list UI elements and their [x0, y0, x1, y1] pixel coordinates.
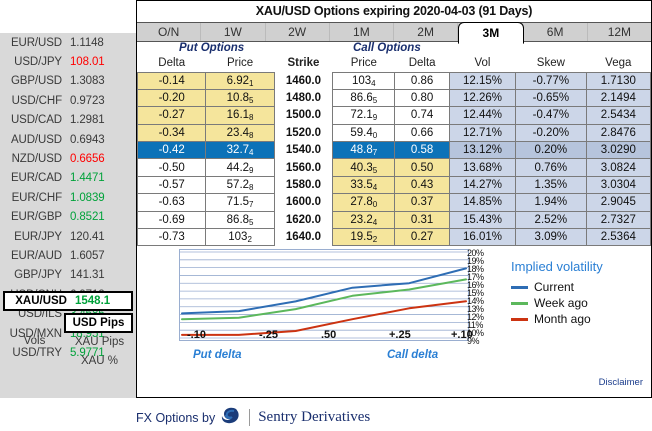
col-vega[interactable]: Vega [586, 56, 650, 72]
rate-value: 108.01 [70, 56, 130, 68]
cell-skew: -0.77% [516, 72, 586, 89]
rate-pair-label: EUR/JPY [0, 231, 70, 243]
col-call-delta[interactable]: Delta [395, 56, 449, 72]
cell-put-price: 86.85 [206, 211, 274, 228]
cell-put-price-fraction: 8 [249, 131, 253, 140]
cell-call-price: 19.52 [333, 229, 395, 246]
table-row[interactable]: -0.2010.851480.086.650.8012.26%-0.65%2.1… [138, 89, 651, 106]
cell-vol: 13.68% [449, 159, 515, 176]
chart-legend-item[interactable]: Month ago [511, 311, 641, 327]
cell-call-price-value: 48.8 [350, 144, 372, 156]
rate-value: 120.41 [70, 231, 130, 243]
chart-legend-item[interactable]: Current [511, 279, 641, 295]
xau-usd-pair-label: XAU/USD [5, 295, 75, 307]
cell-put-price-fraction: 4 [249, 148, 253, 157]
rate-pair-label: USD/CAD [0, 114, 70, 126]
vols-label: Vols [3, 313, 66, 369]
cell-call-delta: 0.50 [395, 159, 449, 176]
cell-put-delta: -0.34 [138, 124, 206, 141]
table-row[interactable]: -0.2716.181500.072.190.7412.44%-0.47%2.5… [138, 107, 651, 124]
cell-call-delta: 0.66 [395, 124, 449, 141]
rate-pair-label: GBP/JPY [0, 269, 70, 281]
rate-row[interactable]: GBP/USD1.3083 [0, 72, 136, 91]
cell-put-price-value: 23.4 [227, 127, 249, 139]
cell-put-price-value: 57.2 [227, 179, 249, 191]
col-vol[interactable]: Vol [449, 56, 515, 72]
sidebar-item-xau-usd[interactable]: XAU/USD 1548.1 [3, 291, 133, 311]
cell-call-price: 72.19 [333, 107, 395, 124]
table-row[interactable]: -0.3423.481520.059.400.6612.71%-0.20%2.8… [138, 124, 651, 141]
rate-row[interactable]: USD/CAD1.2981 [0, 111, 136, 130]
table-row[interactable]: -0.4232.741540.048.870.5813.12%0.20%3.02… [138, 142, 651, 159]
rate-pair-label: GBP/USD [0, 75, 70, 87]
cell-put-price-fraction: 2 [247, 235, 251, 244]
chart-plot-area [180, 250, 468, 340]
rate-pair-label: EUR/GBP [0, 211, 70, 223]
cell-strike: 1460.0 [274, 72, 332, 89]
cell-put-delta: -0.27 [138, 107, 206, 124]
col-put-delta[interactable]: Delta [138, 56, 206, 72]
options-chain-table: Delta Price Strike Price Delta Vol Skew … [137, 56, 651, 246]
cell-call-price-value: 19.5 [350, 231, 372, 243]
xau-usd-rate-value: 1548.1 [75, 295, 131, 307]
chart-y-axis-labels: 20%19%18%17%16%15%14%13%12%11%10%9% [467, 247, 493, 347]
rate-row[interactable]: EUR/CHF1.0839 [0, 188, 136, 207]
cell-call-price: 40.35 [333, 159, 395, 176]
col-put-price[interactable]: Price [206, 56, 274, 72]
col-skew[interactable]: Skew [516, 56, 586, 72]
chart-legend-title: Implied volatility [511, 259, 641, 274]
rate-value: 1.3083 [70, 75, 130, 87]
footer-divider [249, 409, 250, 426]
tab-6m[interactable]: 6M [524, 23, 588, 41]
cell-put-price-value: 6.92 [227, 75, 249, 87]
footer-fx-options-label: FX Options by [136, 411, 215, 425]
vols-option[interactable]: USD Pips [64, 313, 133, 333]
cell-vol: 12.26% [449, 89, 515, 106]
rate-value: 1.0839 [70, 192, 130, 204]
table-body: -0.146.9211460.010340.8612.15%-0.77%1.71… [138, 72, 651, 246]
cell-call-delta: 0.27 [395, 229, 449, 246]
rate-value: 1.2981 [70, 114, 130, 126]
cell-call-price-value: 33.5 [350, 179, 372, 191]
cell-call-price-value: 40.3 [350, 162, 372, 174]
cell-strike: 1540.0 [274, 142, 332, 159]
cell-call-price-fraction: 0 [373, 200, 377, 209]
cell-call-price: 33.54 [333, 176, 395, 193]
tab-1w[interactable]: 1W [201, 23, 265, 41]
cell-call-price: 23.24 [333, 211, 395, 228]
cell-call-price-fraction: 7 [373, 148, 377, 157]
chart-xlabel-call: Call delta [387, 349, 438, 361]
cell-call-price-fraction: 4 [373, 218, 377, 227]
vols-option[interactable]: XAU % [66, 352, 133, 371]
rate-row[interactable]: USD/CHF0.9723 [0, 91, 136, 110]
cell-put-delta: -0.69 [138, 211, 206, 228]
cell-put-price: 6.921 [206, 72, 274, 89]
col-strike[interactable]: Strike [274, 56, 332, 72]
cell-call-delta: 0.80 [395, 89, 449, 106]
cell-put-price: 16.18 [206, 107, 274, 124]
cell-call-price-fraction: 2 [373, 235, 377, 244]
cell-strike: 1500.0 [274, 107, 332, 124]
cell-call-delta: 0.86 [395, 72, 449, 89]
legend-label: Current [534, 280, 574, 294]
cell-put-delta: -0.42 [138, 142, 206, 159]
rate-pair-label: USD/JPY [0, 56, 70, 68]
cell-put-price-fraction: 5 [249, 96, 253, 105]
options-panel: XAU/USD Options expiring 2020-04-03 (91 … [136, 0, 652, 398]
cell-put-delta: -0.20 [138, 89, 206, 106]
cell-put-price-fraction: 8 [249, 183, 253, 192]
cell-put-delta: -0.57 [138, 176, 206, 193]
cell-vega: 2.9045 [586, 194, 650, 211]
tab-o-n[interactable]: O/N [137, 23, 201, 41]
cell-put-delta: -0.63 [138, 194, 206, 211]
cell-put-price-value: 10.8 [227, 92, 249, 104]
cell-put-price: 71.57 [206, 194, 274, 211]
cell-put-price-value: 32.7 [227, 144, 249, 156]
cell-put-price-fraction: 1 [249, 79, 253, 88]
rate-value: 0.9723 [70, 95, 130, 107]
cell-put-delta: -0.14 [138, 72, 206, 89]
cell-vol: 14.27% [449, 176, 515, 193]
rate-value: 1.6057 [70, 250, 130, 262]
cell-put-price: 32.74 [206, 142, 274, 159]
cell-skew: 3.09% [516, 229, 586, 246]
vols-options-list: USD PipsXAU PipsXAU % [66, 313, 133, 369]
cell-vol: 12.71% [449, 124, 515, 141]
chart-x-tick: +.25 [389, 329, 411, 341]
vols-option[interactable]: XAU Pips [66, 333, 133, 352]
rate-row[interactable]: EUR/USD1.1148 [0, 33, 136, 52]
rate-pair-label: EUR/AUD [0, 250, 70, 262]
tab-2m[interactable]: 2M [394, 23, 458, 41]
tab-3m[interactable]: 3M [458, 22, 523, 44]
cell-vol: 14.85% [449, 194, 515, 211]
vols-selector: Vols USD PipsXAU PipsXAU % [3, 313, 133, 369]
cell-call-price-fraction: 0 [373, 131, 377, 140]
cell-vol: 13.12% [449, 142, 515, 159]
table-row[interactable]: -0.5044.291560.040.350.5013.68%0.76%3.08… [138, 159, 651, 176]
cell-put-delta: -0.50 [138, 159, 206, 176]
expiry-tabs: O/N1W2W1M2M3M6M12M [137, 22, 651, 42]
cell-put-price-value: 71.5 [227, 196, 249, 208]
cell-vega: 1.7130 [586, 72, 650, 89]
cell-strike: 1600.0 [274, 194, 332, 211]
cell-vega: 2.1494 [586, 89, 650, 106]
cell-put-price: 57.28 [206, 176, 274, 193]
footer-bar: FX Options by Sentry Derivatives [136, 404, 652, 431]
cell-call-price: 1034 [333, 72, 395, 89]
cell-skew: 2.52% [516, 211, 586, 228]
cell-put-price-fraction: 9 [249, 166, 253, 175]
rate-row[interactable]: USD/JPY108.01 [0, 52, 136, 71]
cell-vol: 16.01% [449, 229, 515, 246]
table-row[interactable]: -0.6371.571600.027.800.3714.85%1.94%2.90… [138, 194, 651, 211]
cell-call-price-value: 59.4 [350, 127, 372, 139]
cell-call-price: 48.87 [333, 142, 395, 159]
cell-vega: 2.5364 [586, 229, 650, 246]
cell-call-price-fraction: 4 [373, 183, 377, 192]
table-header-row: Delta Price Strike Price Delta Vol Skew … [138, 56, 651, 72]
cell-skew: -0.65% [516, 89, 586, 106]
legend-color-swatch [511, 302, 528, 305]
rate-row[interactable]: NZD/USD0.6656 [0, 149, 136, 168]
cell-vega: 2.7327 [586, 211, 650, 228]
chart-x-tick: -.25 [259, 329, 278, 341]
disclaimer-link[interactable]: Disclaimer [599, 377, 643, 388]
chart-x-tick: .50 [321, 329, 336, 341]
implied-volatility-chart [179, 249, 469, 341]
rate-value: 0.8521 [70, 211, 130, 223]
cell-call-price-value: 23.2 [350, 214, 372, 226]
cell-skew: 1.94% [516, 194, 586, 211]
chart-x-tick: -.10 [187, 329, 206, 341]
rate-value: 0.6656 [70, 153, 130, 165]
cell-vega: 3.0290 [586, 142, 650, 159]
col-call-price[interactable]: Price [333, 56, 395, 72]
legend-color-swatch [511, 318, 528, 321]
rate-row[interactable]: AUD/USD0.6943 [0, 130, 136, 149]
rate-row[interactable]: EUR/GBP0.8521 [0, 208, 136, 227]
cell-skew: 1.35% [516, 176, 586, 193]
tab-2w[interactable]: 2W [266, 23, 330, 41]
cell-call-price-fraction: 5 [373, 166, 377, 175]
rate-value: 141.31 [70, 269, 130, 281]
cell-vega: 3.0824 [586, 159, 650, 176]
cell-strike: 1580.0 [274, 176, 332, 193]
rate-row[interactable]: EUR/AUD1.6057 [0, 246, 136, 265]
cell-call-delta: 0.37 [395, 194, 449, 211]
call-options-section-label: Call Options [353, 42, 421, 54]
rate-pair-label: EUR/USD [0, 37, 70, 49]
app-root: EUR/USD1.1148USD/JPY108.01GBP/USD1.3083U… [0, 0, 652, 431]
cell-strike: 1620.0 [274, 211, 332, 228]
cell-call-price: 27.80 [333, 194, 395, 211]
rate-value: 1.4471 [70, 172, 130, 184]
cell-put-price-value: 103 [228, 231, 247, 243]
chart-legend-items: CurrentWeek agoMonth ago [511, 279, 641, 327]
cell-call-price-value: 86.6 [350, 92, 372, 104]
cell-put-price-fraction: 8 [249, 113, 253, 122]
cell-call-price-value: 103 [352, 75, 371, 87]
cell-vol: 12.44% [449, 107, 515, 124]
cell-call-delta: 0.74 [395, 107, 449, 124]
table-row[interactable]: -0.5757.281580.033.540.4314.27%1.35%3.03… [138, 176, 651, 193]
rate-pair-label: EUR/CHF [0, 192, 70, 204]
tab-1m[interactable]: 1M [330, 23, 394, 41]
rate-value: 1.1148 [70, 37, 130, 49]
cell-vol: 15.43% [449, 211, 515, 228]
cell-call-delta: 0.58 [395, 142, 449, 159]
cell-vol: 12.15% [449, 72, 515, 89]
rate-pair-label: NZD/USD [0, 153, 70, 165]
put-options-section-label: Put Options [179, 42, 244, 54]
table-row[interactable]: -0.6986.851620.023.240.3115.43%2.52%2.73… [138, 211, 651, 228]
footer-brand-name: Sentry Derivatives [258, 409, 370, 426]
cell-put-price-value: 16.1 [227, 109, 249, 121]
cell-vega: 3.0304 [586, 176, 650, 193]
cell-put-price-value: 44.2 [227, 162, 249, 174]
cell-skew: 0.76% [516, 159, 586, 176]
table-header: Delta Price Strike Price Delta Vol Skew … [138, 56, 651, 72]
cell-put-price-value: 86.8 [227, 214, 249, 226]
cell-put-price: 44.29 [206, 159, 274, 176]
chart-legend: Implied volatility CurrentWeek agoMonth … [511, 259, 641, 327]
cell-vega: 2.8476 [586, 124, 650, 141]
cell-put-price: 1032 [206, 229, 274, 246]
rate-pair-label: USD/CHF [0, 95, 70, 107]
cell-call-price: 59.40 [333, 124, 395, 141]
rate-pair-label: EUR/CAD [0, 172, 70, 184]
cell-call-price-fraction: 4 [371, 79, 375, 88]
table-row[interactable]: -0.146.9211460.010340.8612.15%-0.77%1.71… [138, 72, 651, 89]
chart-legend-item[interactable]: Week ago [511, 295, 641, 311]
cell-put-price-fraction: 5 [249, 218, 253, 227]
chart-xlabel-put: Put delta [193, 349, 242, 361]
cell-skew: 0.20% [516, 142, 586, 159]
section-labels: Put Options Call Options [137, 42, 651, 56]
legend-color-swatch [511, 286, 528, 289]
cell-vega: 2.5434 [586, 107, 650, 124]
cell-call-delta: 0.31 [395, 211, 449, 228]
cell-call-price-value: 72.1 [350, 109, 372, 121]
cell-put-price: 23.48 [206, 124, 274, 141]
cell-skew: -0.20% [516, 124, 586, 141]
cell-put-price: 10.85 [206, 89, 274, 106]
cell-skew: -0.47% [516, 107, 586, 124]
rate-row[interactable]: GBP/JPY141.31 [0, 266, 136, 285]
chart-y-tick: 9% [467, 337, 479, 345]
cell-strike: 1480.0 [274, 89, 332, 106]
cell-strike: 1640.0 [274, 229, 332, 246]
cell-put-price-fraction: 7 [249, 200, 253, 209]
cell-call-price: 86.65 [333, 89, 395, 106]
legend-label: Week ago [534, 296, 588, 310]
cell-call-price-fraction: 5 [373, 96, 377, 105]
rate-pair-label: AUD/USD [0, 134, 70, 146]
cell-call-delta: 0.43 [395, 176, 449, 193]
cell-call-price-value: 27.8 [350, 196, 372, 208]
table-row[interactable]: -0.7310321640.019.520.2716.01%3.09%2.536… [138, 229, 651, 246]
page-title: XAU/USD Options expiring 2020-04-03 (91 … [137, 1, 651, 18]
tab-12m[interactable]: 12M [588, 23, 651, 41]
sentry-logo-icon [220, 405, 242, 430]
rate-row[interactable]: EUR/CAD1.4471 [0, 169, 136, 188]
cell-put-delta: -0.73 [138, 229, 206, 246]
cell-call-price-fraction: 9 [373, 113, 377, 122]
cell-strike: 1560.0 [274, 159, 332, 176]
legend-label: Month ago [534, 312, 591, 326]
cell-strike: 1520.0 [274, 124, 332, 141]
rate-row[interactable]: EUR/JPY120.41 [0, 227, 136, 246]
rate-value: 0.6943 [70, 134, 130, 146]
